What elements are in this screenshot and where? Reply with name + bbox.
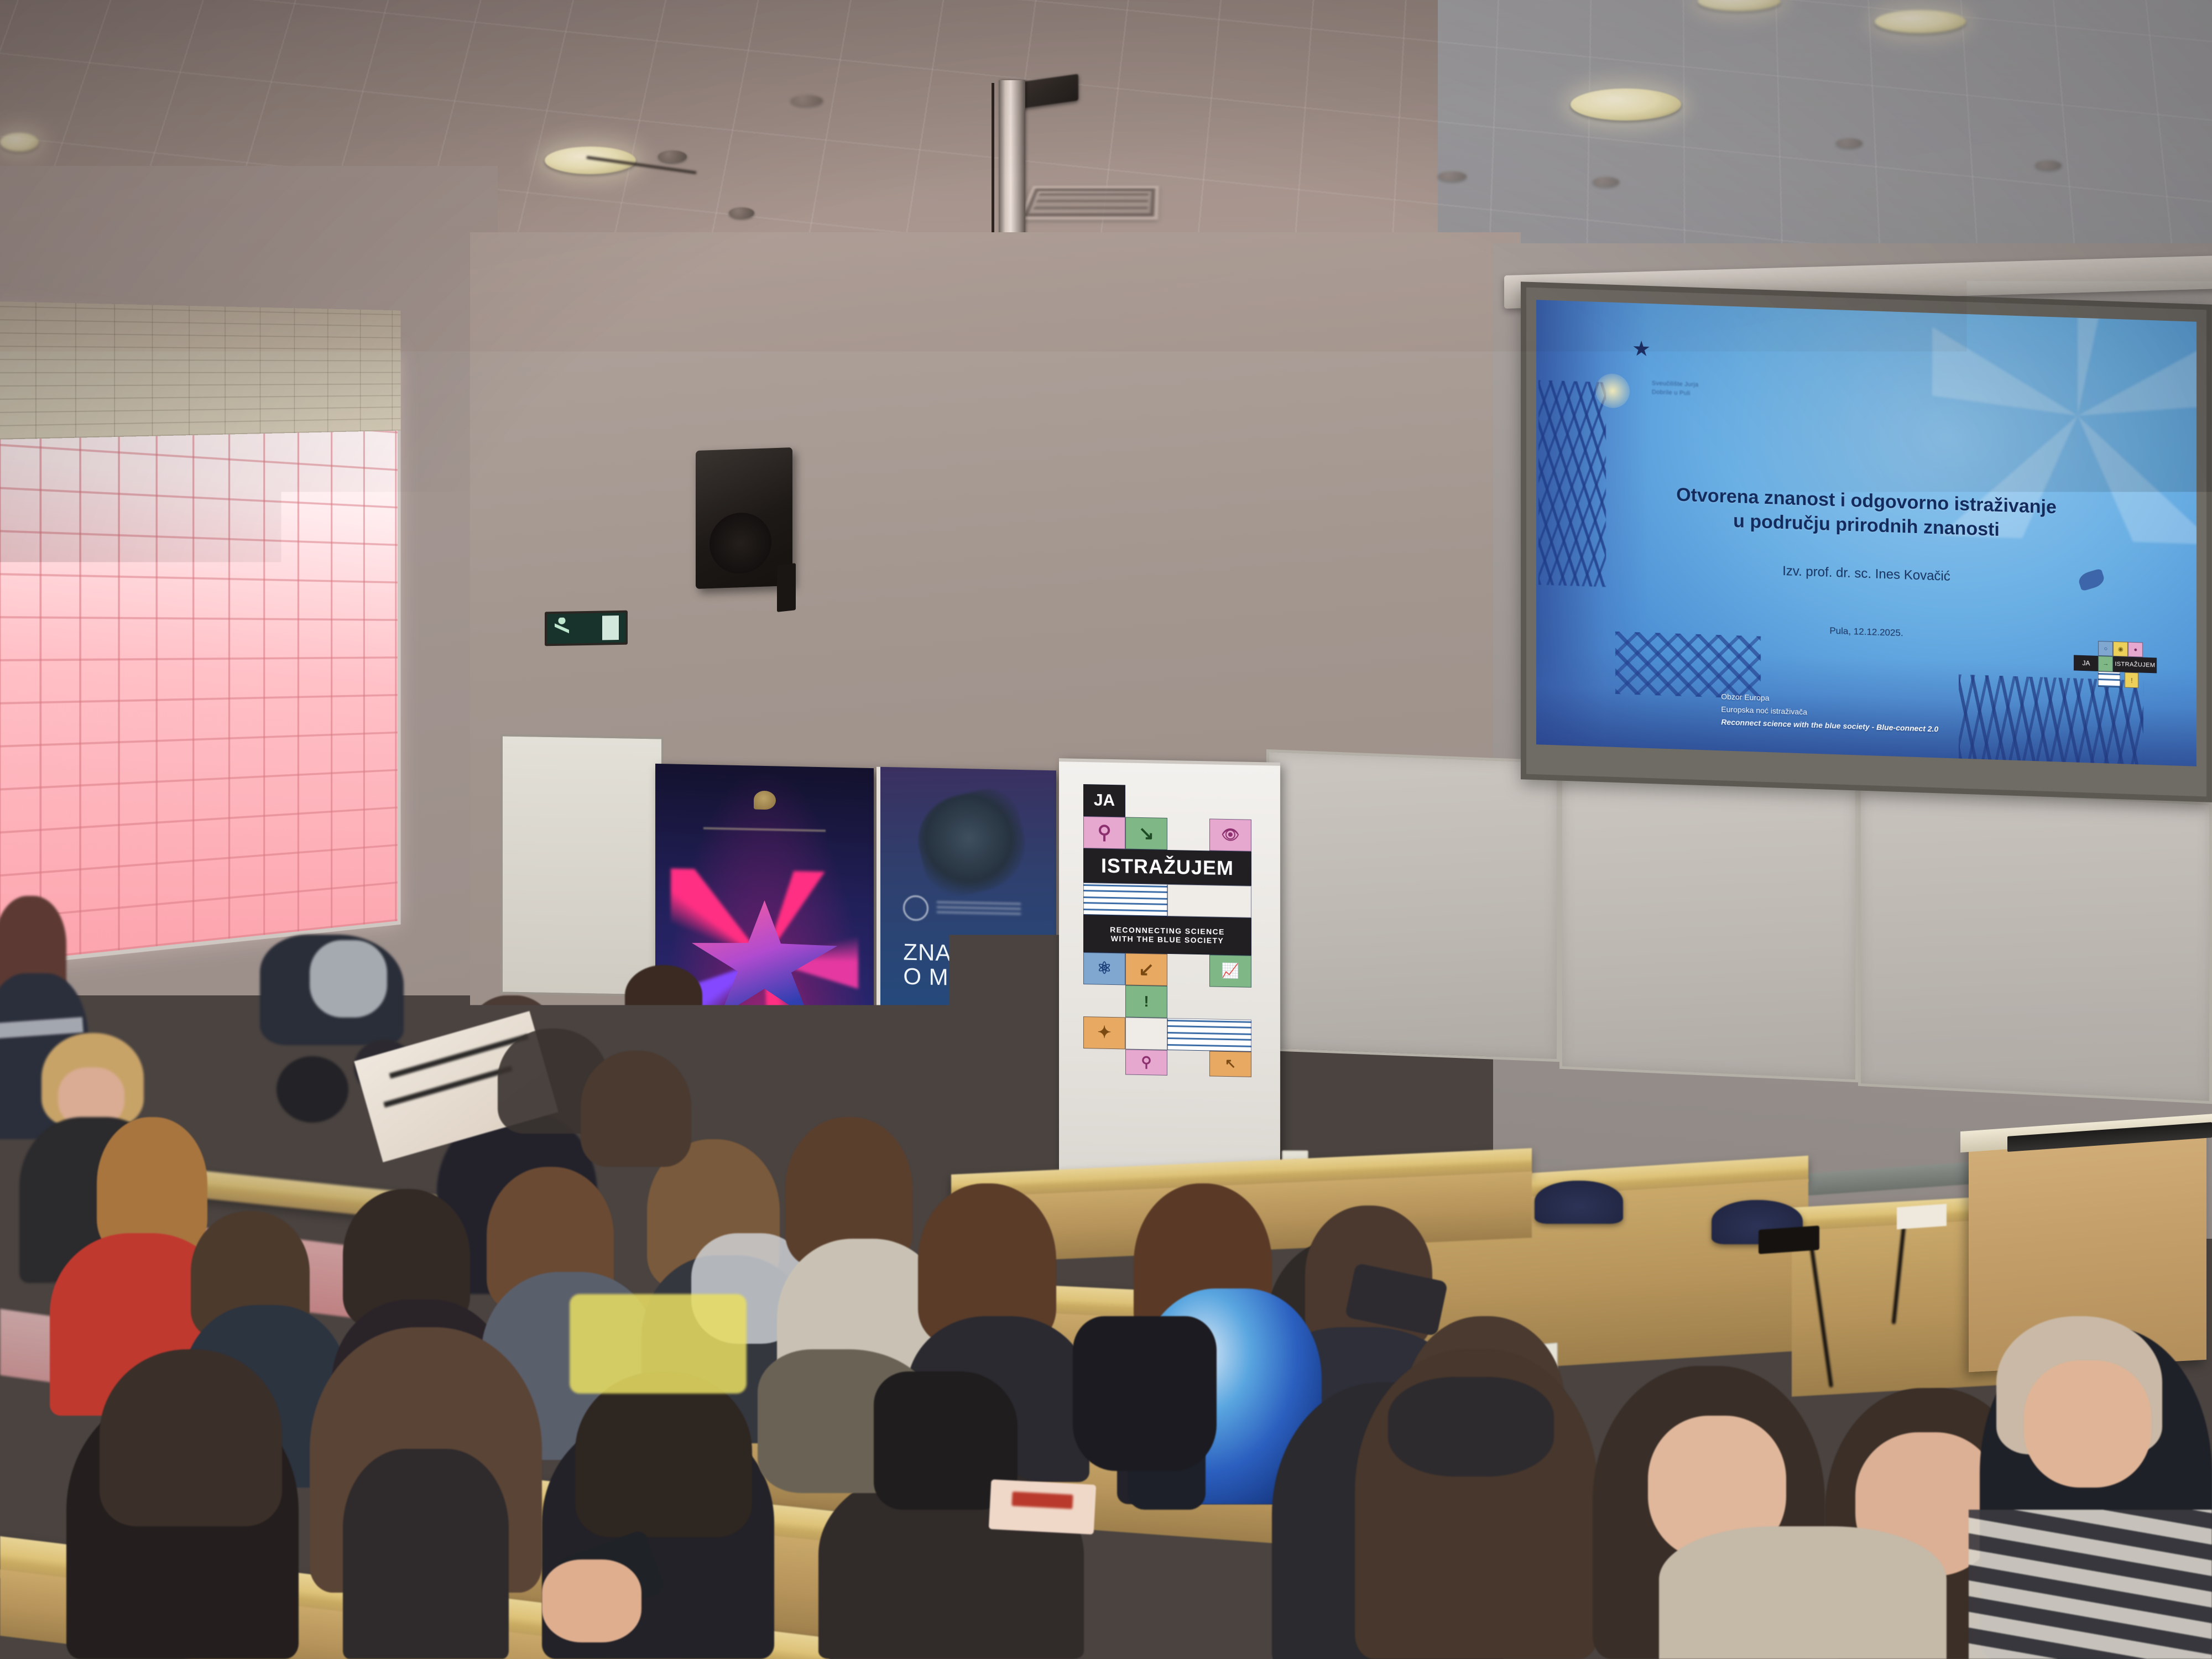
yellow-item-on-desk [570, 1294, 747, 1394]
exit-sign [545, 611, 628, 646]
whiteboard-panel [1858, 785, 2212, 1104]
arrow-down-right-icon: ↘ [1125, 817, 1167, 849]
presentation-slide: ★ Sveučilište Jurja Dobrile u Puli Otvor… [1536, 300, 2197, 766]
whiteboard-panel [1266, 749, 1559, 1062]
chair [1535, 1181, 1623, 1224]
arrow-down-left-icon: ↙ [1125, 953, 1167, 985]
ceiling-light [1571, 88, 1681, 121]
arrow-right-icon: → [2098, 656, 2113, 672]
wave-icon [1167, 1018, 1251, 1052]
ceiling-light [1875, 10, 1966, 33]
person-body [1659, 1526, 1947, 1659]
speaker-bracket [777, 563, 796, 612]
university-seal-icon [754, 791, 776, 810]
banner-university-text [703, 827, 826, 832]
university-logo-text: Sveučilište Jurja Dobrile u Puli [1652, 379, 1738, 400]
lecture-hall-photo: ★ Sveučilište Jurja Dobrile u Puli Otvor… [0, 0, 2212, 1659]
person-hair [581, 1051, 691, 1167]
slide-logo-ja: JA [2074, 655, 2098, 671]
window-blind [0, 301, 401, 440]
person-body [343, 1449, 509, 1659]
banner-subtitle-text [681, 1070, 847, 1077]
tile-ja: JA [1083, 784, 1125, 817]
banner-ja-istrazujem: JA ⚲ ↘ 👁 ISTRAŽUJEM RECONNECTING SCIENCE… [1059, 758, 1280, 1205]
exclamation-icon: ! [1125, 985, 1167, 1018]
wave-icon [1083, 883, 1167, 916]
fish-school-decor [1615, 632, 1761, 698]
person-head [276, 1056, 348, 1123]
sparkle-icon: ✦ [1083, 1016, 1125, 1049]
arrow-icon: ↖ [1209, 1051, 1251, 1077]
sunglasses-on-head [1388, 1377, 1554, 1477]
person-face [2024, 1360, 2151, 1488]
smoke-detector [729, 207, 754, 218]
tile-blank [1167, 884, 1251, 918]
tile-tagline: RECONNECTING SCIENCE WITH THE BLUE SOCIE… [1083, 915, 1251, 956]
banner-body-text [903, 1014, 1012, 1042]
exit-door-icon [602, 615, 619, 640]
atom-icon: ◉ [2113, 641, 2128, 657]
tagline-line2: WITH THE BLUE SOCIETY [1111, 934, 1224, 945]
hand [542, 1559, 641, 1642]
magnifier-icon: ⚲ [1083, 816, 1125, 849]
banner-heading-line2: O MORU [903, 964, 1051, 992]
smoke-detector [1593, 177, 1619, 187]
person-hair [625, 965, 702, 1026]
paper-sheet [1897, 1204, 1947, 1229]
eye-icon: 👁 [1209, 818, 1251, 851]
banner-heading: ZNANOST O MORU [903, 940, 1051, 992]
atom-icon: ⚛ [1083, 952, 1125, 985]
backpack [1073, 1316, 1217, 1471]
hvac-vent [1018, 186, 1159, 220]
door-panel [500, 734, 664, 997]
brand-text [937, 901, 1021, 915]
star-decor-icon: ★ [1632, 341, 1651, 360]
slide-footer: Obzor Europa Europska noć istraživača Re… [1721, 690, 1938, 735]
striped-sweater [1969, 1510, 2212, 1659]
tile-blank [1125, 1017, 1167, 1050]
running-man-icon [555, 618, 569, 640]
person-hair [575, 1371, 752, 1537]
banner-divider [677, 1080, 852, 1085]
tile-istrazujem: ISTRAŽUJEM [1083, 848, 1251, 886]
ja-istrazujem-tile-grid: JA ⚲ ↘ 👁 ISTRAŽUJEM RECONNECTING SCIENCE… [1083, 784, 1251, 1182]
slide-author: Izv. prof. dr. sc. Ines Kovačić [1602, 557, 2130, 591]
ceiling-light [0, 133, 39, 152]
smoke-detector [658, 150, 687, 163]
smoke-detector [791, 95, 823, 106]
smoke-detector [1438, 171, 1467, 181]
magnifier-icon: ○ [2098, 641, 2113, 656]
ja-istrazujem-logo-on-slide: ○ ◉ ● JA → ISTRAŽUJEM ! [2074, 640, 2157, 694]
person-scarf [310, 940, 387, 1018]
brand-circle-icon [903, 895, 928, 921]
diver-photo [909, 783, 1035, 902]
eye-icon: ● [2128, 642, 2143, 658]
exclamation-icon: ! [2125, 672, 2138, 688]
ceiling-light [545, 147, 636, 174]
qr-code-icon [903, 1053, 928, 1076]
person-hair [100, 1349, 282, 1526]
projection-screen: ★ Sveučilište Jurja Dobrile u Puli Otvor… [1521, 281, 2212, 802]
magnifier-icon: ⚲ [1125, 1049, 1167, 1075]
smoke-detector [2035, 160, 2062, 170]
slide-logo-istrazujem: ISTRAŽUJEM [2113, 656, 2157, 674]
whiteboard-panel [1559, 768, 1858, 1083]
line-chart-icon: 📈 [1209, 954, 1251, 987]
smoke-detector [1836, 138, 1863, 148]
wave-icon [2098, 671, 2120, 687]
